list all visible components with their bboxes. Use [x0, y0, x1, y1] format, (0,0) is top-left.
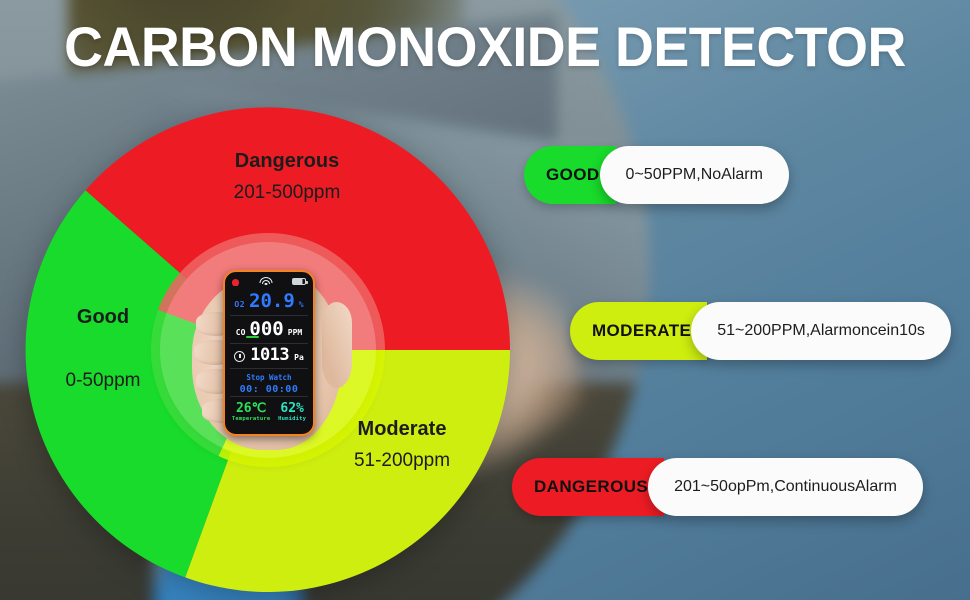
detector-device[interactable]: O2 20.9 % CO 000 PPM 1013 Pa Stop Wa [223, 270, 315, 436]
device-status-bar [225, 272, 313, 289]
battery-icon [292, 278, 306, 285]
device-temperature-caption: Temperature [232, 416, 271, 422]
device-pressure-unit: Pa [294, 353, 304, 362]
device-co-label: CO [236, 328, 246, 337]
device-pressure-reading: 1013 Pa [225, 345, 313, 367]
device-divider [230, 343, 308, 344]
level-detail-moderate: 51~200PPM,Alarmoncein10s [691, 302, 951, 360]
device-divider [230, 315, 308, 316]
page-title: CARBON MONOXIDE DETECTOR [19, 14, 950, 79]
level-detail-good: 0~50PPM,NoAlarm [600, 146, 789, 204]
level-pill-dangerous: DANGEROUS 201~50opPm,ContinuousAlarm [512, 458, 923, 516]
device-o2-reading: O2 20.9 % [225, 289, 313, 314]
level-tag-dangerous: DANGEROUS [512, 458, 664, 516]
pie-chart: Dangerous 201-500ppm Good 0-50ppm Modera… [22, 104, 514, 596]
device-o2-label: O2 [234, 300, 245, 309]
device-pressure-value: 1013 [250, 347, 289, 364]
level-detail-dangerous: 201~50opPm,ContinuousAlarm [648, 458, 923, 516]
hand-thumb [322, 302, 352, 388]
device-env-readings: 26℃ Temperature 62% Humidity [225, 398, 313, 425]
level-pill-moderate: MODERATE 51~200PPM,Alarmoncein10s [570, 302, 951, 360]
device-temperature-value: 26℃ [232, 402, 271, 416]
level-pill-good: GOOD 0~50PPM,NoAlarm [524, 146, 789, 204]
gauge-icon [234, 351, 245, 362]
device-humidity-value: 62% [278, 402, 306, 416]
infographic-stage: CARBON MONOXIDE DETECTOR Dangerous 201-5… [0, 0, 970, 600]
device-humidity: 62% Humidity [278, 402, 306, 422]
alarm-bell-icon [232, 278, 239, 286]
device-temperature: 26℃ Temperature [232, 402, 271, 422]
device-co-unit: PPM [288, 328, 302, 337]
device-divider [230, 396, 308, 397]
device-o2-unit: % [299, 300, 304, 309]
device-divider [230, 368, 308, 369]
level-tag-moderate: MODERATE [570, 302, 707, 360]
device-stopwatch-time: 00: 00:00 [225, 382, 313, 395]
device-humidity-caption: Humidity [278, 416, 306, 422]
device-co-reading: CO 000 PPM [225, 317, 313, 342]
wifi-icon [259, 277, 272, 286]
device-stopwatch-label: Stop Watch [225, 370, 313, 382]
device-o2-value: 20.9 [249, 292, 295, 311]
hand-holding-device: O2 20.9 % CO 000 PPM 1013 Pa Stop Wa [190, 252, 350, 452]
